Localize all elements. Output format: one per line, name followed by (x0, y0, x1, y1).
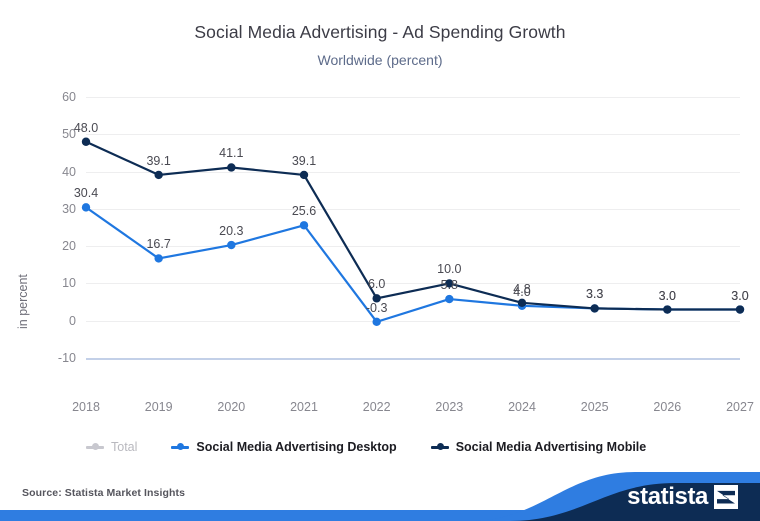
legend-label: Social Media Advertising Desktop (196, 440, 396, 454)
legend-marker-icon (171, 442, 189, 453)
x-axis-tick-label: 2024 (508, 400, 536, 414)
statista-logo: statista (627, 482, 738, 512)
data-point-marker[interactable] (82, 203, 90, 211)
x-axis-tick-label: 2026 (653, 400, 681, 414)
y-axis-tick-label: 60 (62, 90, 76, 104)
y-axis-tick-label: 20 (62, 239, 76, 253)
data-point-marker[interactable] (300, 171, 308, 179)
data-point-marker[interactable] (300, 221, 308, 229)
chart-title: Social Media Advertising - Ad Spending G… (0, 22, 760, 43)
data-point-marker[interactable] (445, 279, 453, 287)
statista-mark-icon (714, 485, 738, 509)
legend-marker-icon (431, 442, 449, 453)
y-axis: in percent 6050403020100-10 (0, 97, 86, 358)
data-point-marker[interactable] (227, 241, 235, 249)
chart-legend: TotalSocial Media Advertising DesktopSoc… (86, 437, 646, 457)
x-axis-tick-label: 2025 (581, 400, 609, 414)
data-point-marker[interactable] (590, 304, 598, 312)
x-axis-tick-label: 2018 (72, 400, 100, 414)
chart-container: Social Media Advertising - Ad Spending G… (0, 0, 760, 521)
data-point-marker[interactable] (227, 163, 235, 171)
legend-marker-icon (86, 442, 104, 453)
data-point-marker[interactable] (154, 254, 162, 262)
data-point-marker[interactable] (736, 305, 744, 313)
series-line (86, 207, 740, 321)
x-axis-tick-label: 2022 (363, 400, 391, 414)
data-point-marker[interactable] (154, 171, 162, 179)
x-axis-tick-label: 2020 (217, 400, 245, 414)
x-axis-tick-label: 2027 (726, 400, 754, 414)
series-lines (86, 97, 740, 358)
data-point-marker[interactable] (518, 299, 526, 307)
data-point-marker[interactable] (82, 138, 90, 146)
y-axis-tick-label: 30 (62, 202, 76, 216)
data-point-marker[interactable] (445, 295, 453, 303)
legend-label: Social Media Advertising Mobile (456, 440, 647, 454)
y-axis-tick-label: 50 (62, 127, 76, 141)
legend-item[interactable]: Total (86, 440, 137, 454)
legend-item[interactable]: Social Media Advertising Desktop (171, 440, 396, 454)
x-axis-tick-label: 2019 (145, 400, 173, 414)
brand-name: statista (627, 483, 708, 511)
gridline (86, 358, 740, 360)
y-axis-title: in percent (16, 274, 30, 329)
y-axis-tick-label: 0 (69, 314, 76, 328)
y-axis-tick-label: 10 (62, 276, 76, 290)
x-axis-tick-label: 2021 (290, 400, 318, 414)
source-note: Source: Statista Market Insights (22, 487, 185, 499)
y-axis-tick-label: 40 (62, 165, 76, 179)
x-axis-tick-label: 2023 (435, 400, 463, 414)
legend-label: Total (111, 440, 137, 454)
legend-item[interactable]: Social Media Advertising Mobile (431, 440, 647, 454)
data-point-marker[interactable] (663, 305, 671, 313)
x-axis: 2018201920202021202220232024202520262027 (86, 400, 740, 420)
y-axis-tick-label: -10 (58, 351, 76, 365)
data-point-marker[interactable] (372, 294, 380, 302)
data-point-marker[interactable] (372, 318, 380, 326)
series-line (86, 142, 740, 310)
chart-subtitle: Worldwide (percent) (0, 52, 760, 68)
